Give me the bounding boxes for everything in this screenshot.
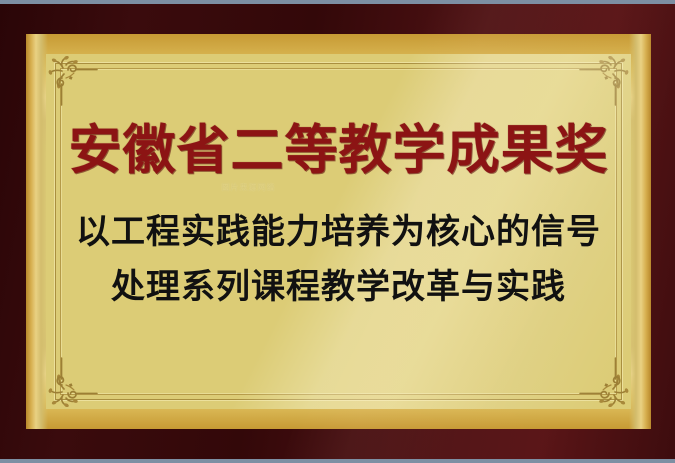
award-title: 安徽省二等教学成果奖 xyxy=(69,122,609,178)
gold-bevel-plate: 安徽省二等教学成果奖 图片来源网络 以工程实践能力培养为核心的信号 处理系列课程… xyxy=(26,34,651,429)
project-subtitle: 以工程实践能力培养为核心的信号 处理系列课程教学改革与实践 xyxy=(76,205,601,315)
project-subtitle-line-2: 处理系列课程教学改革与实践 xyxy=(76,260,601,315)
plaque-photo: 安徽省二等教学成果奖 图片来源网络 以工程实践能力培养为核心的信号 处理系列课程… xyxy=(0,0,675,463)
image-watermark: 图片来源网络 xyxy=(222,182,276,193)
plaque-inner-field: 安徽省二等教学成果奖 图片来源网络 以工程实践能力培养为核心的信号 处理系列课程… xyxy=(46,54,631,409)
project-subtitle-line-1: 以工程实践能力培养为核心的信号 xyxy=(76,205,601,260)
plaque-text-block: 安徽省二等教学成果奖 图片来源网络 以工程实践能力培养为核心的信号 处理系列课程… xyxy=(46,54,631,409)
wooden-outer-frame: 安徽省二等教学成果奖 图片来源网络 以工程实践能力培养为核心的信号 处理系列课程… xyxy=(0,4,675,459)
